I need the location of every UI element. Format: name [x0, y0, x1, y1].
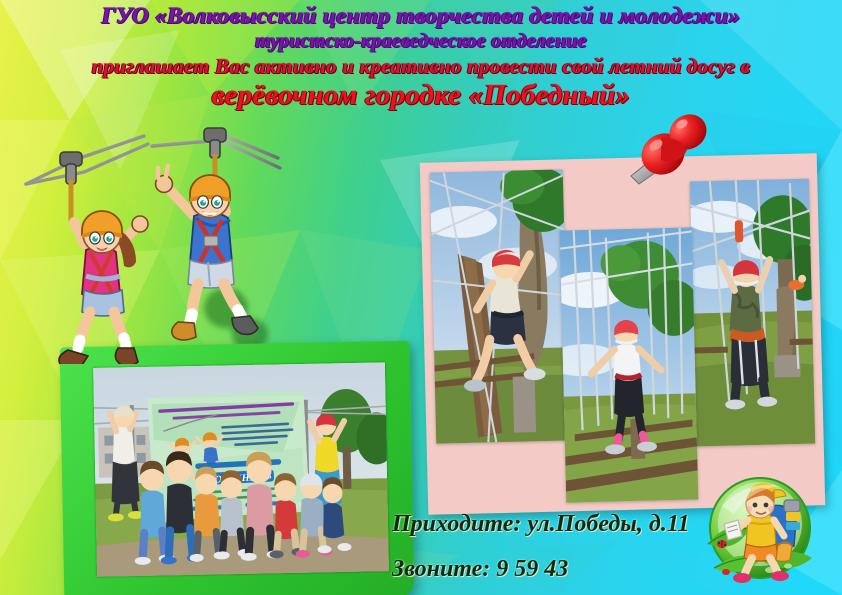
boy-figure	[156, 166, 258, 340]
kids-on-zipline-illustration	[8, 124, 298, 364]
photo-2-svg	[560, 227, 699, 502]
girl-on-rope-bridge-photo	[560, 227, 699, 502]
kids-zipline-svg	[8, 124, 298, 364]
pushpin-svg	[625, 110, 709, 194]
poster-canvas: «ПОБЕДНЫЙ»	[0, 0, 842, 595]
boy-climbing-log-photo	[430, 169, 570, 443]
group-photo-svg: «ПОБЕДНЫЙ»	[93, 362, 389, 577]
girl-figure	[59, 211, 148, 364]
emblem-svg	[700, 470, 820, 588]
phone-text: Звоните: 9 59 43	[392, 556, 568, 583]
photo-3-svg	[690, 179, 815, 447]
photo-1-svg	[430, 169, 570, 443]
red-pushpin-icon	[625, 110, 709, 194]
address-text: Приходите: ул.Победы, д.11	[392, 511, 690, 538]
hiker-boy-emblem-icon	[700, 470, 820, 588]
boy-on-rope-course-photo	[690, 179, 815, 447]
group-photo: «ПОБЕДНЫЙ»	[93, 362, 389, 577]
